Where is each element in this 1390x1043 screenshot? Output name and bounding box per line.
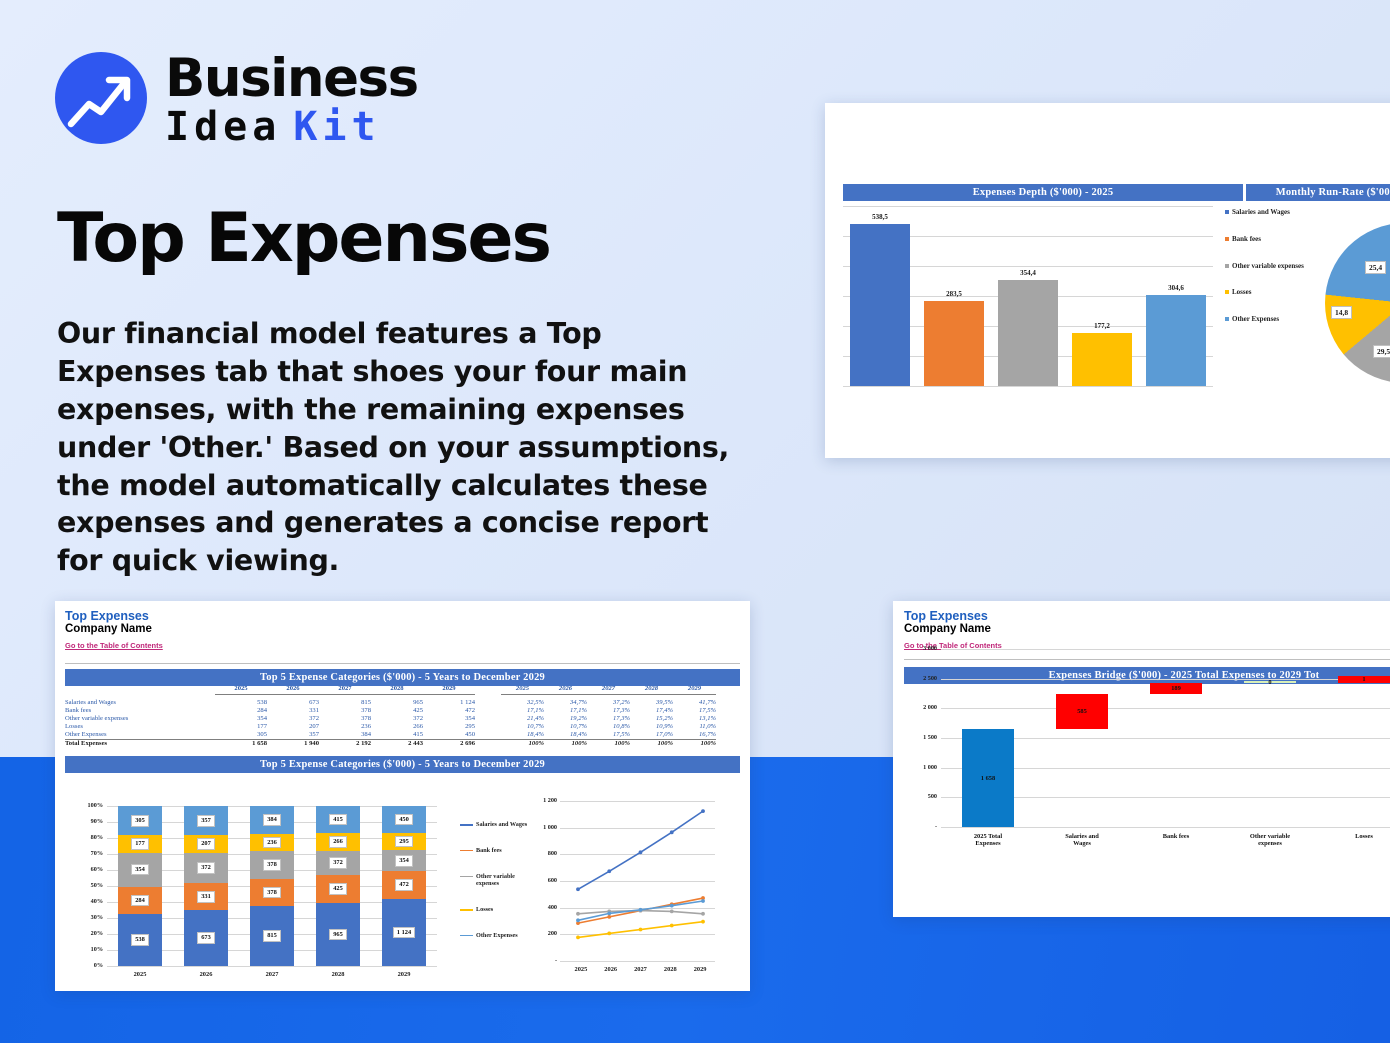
brand-name-primary: Business bbox=[165, 52, 418, 105]
stack-segment: 372 bbox=[316, 851, 360, 875]
pie-value-label: 25,4 bbox=[1365, 261, 1386, 274]
legend-label: Other Expenses bbox=[476, 932, 518, 940]
stacked-series: 3051773542845383572073723316733842363783… bbox=[107, 806, 437, 966]
top-charts-panel: Expenses Depth ($'000) - 2025 Monthly Ru… bbox=[825, 103, 1390, 458]
waterfall-column: 0Other variable expenses bbox=[1244, 649, 1296, 827]
y-axis-tick: 500 bbox=[905, 793, 937, 800]
stack-segment: 354 bbox=[118, 853, 162, 887]
x-axis-categories: 20252026202720282029 bbox=[560, 961, 715, 973]
bar-rect bbox=[998, 280, 1059, 386]
waterfall-column: 1 6582025 Total Expenses bbox=[962, 649, 1014, 827]
stack-segment: 384 bbox=[250, 806, 294, 834]
bar-value-label: 177,2 bbox=[1065, 322, 1139, 330]
waterfall-column: 585Salaries and Wages bbox=[1056, 649, 1108, 827]
legend-swatch-icon bbox=[1225, 237, 1229, 241]
waterfall-value-label: 585 bbox=[1056, 708, 1108, 715]
y-axis-tick: 50% bbox=[75, 882, 103, 889]
expenses-depth-bar-chart: 538,5283,5354,4177,2304,6 bbox=[843, 206, 1213, 386]
stack-segment: 1 124 bbox=[382, 899, 426, 966]
bar-value-label: 538,5 bbox=[843, 213, 917, 221]
y-axis-tick: 3 000 bbox=[905, 645, 937, 652]
y-axis-tick: 80% bbox=[75, 834, 103, 841]
stack-segment: 354 bbox=[382, 850, 426, 871]
x-tick: 2027 bbox=[626, 961, 656, 973]
legend-item: Other variable expenses bbox=[460, 873, 532, 889]
bar-rect bbox=[850, 224, 911, 386]
segment-value-label: 354 bbox=[131, 864, 149, 876]
waterfall-column: 1Losses bbox=[1338, 649, 1390, 827]
y-axis-tick: 400 bbox=[532, 904, 557, 911]
y-axis-tick: 200 bbox=[532, 930, 557, 937]
chart-title-row: Expenses Depth ($'000) - 2025 Monthly Ru… bbox=[843, 184, 1390, 201]
legend-label: Other variable expenses bbox=[476, 873, 532, 889]
stack-segment: 538 bbox=[118, 914, 162, 966]
x-tick: 2028 bbox=[305, 966, 371, 978]
waterfall-column: 189Bank fees bbox=[1150, 649, 1202, 827]
y-axis-tick: 800 bbox=[532, 850, 557, 857]
segment-value-label: 538 bbox=[131, 934, 149, 946]
x-tick: 2025 bbox=[107, 966, 173, 978]
x-tick: Other variable expenses bbox=[1244, 827, 1296, 847]
sheet-title: Top Expenses bbox=[904, 609, 1002, 623]
segment-value-label: 472 bbox=[395, 879, 413, 891]
segment-value-label: 378 bbox=[263, 887, 281, 899]
segment-value-label: 207 bbox=[197, 838, 215, 850]
stacked-bar-2025: 305177354284538 bbox=[107, 806, 173, 966]
sheet-title: Top Expenses bbox=[65, 609, 163, 623]
y-axis-tick: 1 000 bbox=[905, 764, 937, 771]
legend-line-icon bbox=[460, 876, 473, 878]
stacked-bar-2027: 384236378378815 bbox=[239, 806, 305, 966]
legend-item: Other variable expenses bbox=[1225, 262, 1315, 271]
segment-value-label: 305 bbox=[131, 815, 149, 827]
pie-value-label: 14,8 bbox=[1331, 306, 1352, 319]
top-expense-categories-sheet: Top Expenses Company Name Go to the Tabl… bbox=[55, 601, 750, 991]
x-tick: 2027 bbox=[239, 966, 305, 978]
y-axis-tick: 60% bbox=[75, 866, 103, 873]
y-axis-tick: 2 000 bbox=[905, 704, 937, 711]
y-axis-tick: 40% bbox=[75, 898, 103, 905]
x-tick: 2029 bbox=[685, 961, 715, 973]
trending-up-arrow-icon bbox=[55, 52, 147, 144]
legend-item: Bank fees bbox=[1225, 235, 1315, 244]
stack-segment: 357 bbox=[184, 806, 228, 835]
legend-item: Bank fees bbox=[460, 847, 532, 855]
legend-label: Bank fees bbox=[476, 847, 502, 855]
segment-value-label: 965 bbox=[329, 929, 347, 941]
waterfall-value-label: 1 bbox=[1338, 676, 1390, 683]
legend-swatch-icon bbox=[1225, 290, 1229, 294]
stack-segment: 965 bbox=[316, 903, 360, 966]
stack-segment: 673 bbox=[184, 910, 228, 966]
stack-segment: 472 bbox=[382, 871, 426, 899]
legend-label: Losses bbox=[476, 906, 493, 914]
x-tick: 2025 bbox=[566, 961, 596, 973]
stacked-bar-2026: 357207372331673 bbox=[173, 806, 239, 966]
monthly-run-rate-pie-chart: 25,414,829,523 bbox=[1325, 223, 1390, 383]
brand-name-secondary: Idea bbox=[165, 107, 281, 147]
table-row: Bank fees28433137842547217,1%17,1%17,3%1… bbox=[65, 707, 716, 715]
y-axis-tick: 600 bbox=[532, 877, 557, 884]
legend-label: Losses bbox=[1232, 288, 1251, 297]
y-axis-tick: 10% bbox=[75, 946, 103, 953]
stack-segment: 372 bbox=[184, 853, 228, 884]
table-row: Other variable expenses35437237837235421… bbox=[65, 715, 716, 723]
legend-item: Losses bbox=[1225, 288, 1315, 297]
segment-value-label: 1 124 bbox=[393, 927, 415, 939]
table-row: Other Expenses30535738441545018,4%18,4%1… bbox=[65, 731, 716, 740]
y-axis-tick: 1 000 bbox=[532, 824, 557, 831]
legend-label: Other Expenses bbox=[1232, 315, 1279, 324]
y-axis-tick: 1 200 bbox=[532, 797, 557, 804]
pie-value-label: 29,5 bbox=[1373, 345, 1390, 358]
segment-value-label: 236 bbox=[263, 837, 281, 849]
segment-value-label: 384 bbox=[263, 814, 281, 826]
pie-slices bbox=[1325, 223, 1390, 383]
stacked-bar-2029: 4502953544721 124 bbox=[371, 806, 437, 966]
y-axis-tick: 70% bbox=[75, 850, 103, 857]
y-axis-tick: - bbox=[905, 823, 937, 830]
y-axis-tick: 1 500 bbox=[905, 734, 937, 741]
stack-segment: 378 bbox=[250, 879, 294, 907]
table-row: Salaries and Wages5386738159651 12432,5%… bbox=[65, 699, 716, 707]
table-row: Losses17720723626629510,7%10,7%10,8%10,9… bbox=[65, 723, 716, 731]
x-tick: 2026 bbox=[173, 966, 239, 978]
y-axis-tick: 100% bbox=[75, 802, 103, 809]
bar-value-label: 304,6 bbox=[1139, 284, 1213, 292]
line-chart-legend: Salaries and WagesBank feesOther variabl… bbox=[460, 821, 532, 958]
sheet-company-name: Company Name bbox=[65, 623, 163, 635]
legend-label: Salaries and Wages bbox=[476, 821, 527, 829]
legend-item: Losses bbox=[460, 906, 532, 914]
x-tick: 2029 bbox=[371, 966, 437, 978]
segment-value-label: 284 bbox=[131, 895, 149, 907]
stack-segment: 331 bbox=[184, 883, 228, 910]
stack-segment: 177 bbox=[118, 835, 162, 852]
legend-label: Other variable expenses bbox=[1232, 262, 1304, 271]
legend-line-icon bbox=[460, 909, 473, 911]
x-tick: 2026 bbox=[596, 961, 626, 973]
legend-item: Salaries and Wages bbox=[460, 821, 532, 829]
x-tick: 2028 bbox=[655, 961, 685, 973]
segment-value-label: 673 bbox=[197, 932, 215, 944]
y-axis-tick: 0% bbox=[75, 962, 103, 969]
stack-segment: 284 bbox=[118, 887, 162, 914]
expenses-depth-title: Expenses Depth ($'000) - 2025 bbox=[843, 184, 1243, 201]
stack-segment: 450 bbox=[382, 806, 426, 833]
stacked-bar-chart: 100%90%80%70%60%50%40%30%20%10%0% 305177… bbox=[107, 806, 437, 966]
table-total-row: Total Expenses1 6581 9402 1922 4432 6961… bbox=[65, 739, 716, 748]
stack-segment: 266 bbox=[316, 833, 360, 850]
segment-value-label: 378 bbox=[263, 859, 281, 871]
segment-value-label: 815 bbox=[263, 930, 281, 942]
expense-trend-line-chart: 1 2001 000800600400200- 2025202620272028… bbox=[560, 801, 715, 961]
page-title: Top Expenses bbox=[57, 205, 737, 273]
brand-logo: Business Idea Kit bbox=[55, 48, 418, 147]
y-axis-tick: 30% bbox=[75, 914, 103, 921]
segment-value-label: 372 bbox=[329, 857, 347, 869]
segment-value-label: 266 bbox=[329, 836, 347, 848]
segment-value-label: 450 bbox=[395, 814, 413, 826]
stack-segment: 305 bbox=[118, 806, 162, 835]
expenses-depth-legend: Salaries and WagesBank feesOther variabl… bbox=[1225, 208, 1315, 342]
table-of-contents-link[interactable]: Go to the Table of Contents bbox=[65, 641, 163, 650]
monthly-run-rate-title: Monthly Run-Rate ($'000 bbox=[1246, 184, 1390, 201]
segment-value-label: 357 bbox=[197, 815, 215, 827]
stack-segment: 207 bbox=[184, 835, 228, 852]
waterfall-value-label: 0 bbox=[1244, 679, 1296, 686]
stacked-bar-2028: 415266372425965 bbox=[305, 806, 371, 966]
expenses-bridge-waterfall-chart: 3 0002 5002 0001 5001 000500- 1 6582025 … bbox=[941, 649, 1390, 827]
segment-value-label: 372 bbox=[197, 862, 215, 874]
legend-line-icon bbox=[460, 824, 473, 826]
legend-label: Salaries and Wages bbox=[1232, 208, 1290, 217]
x-tick: Bank fees bbox=[1150, 827, 1202, 840]
stack-segment: 295 bbox=[382, 833, 426, 851]
waterfall-value-label: 1 658 bbox=[962, 775, 1014, 782]
bar-value-label: 354,4 bbox=[991, 269, 1065, 277]
legend-item: Salaries and Wages bbox=[1225, 208, 1315, 217]
table-title-band: Top 5 Expense Categories ($'000) - 5 Yea… bbox=[65, 669, 740, 686]
segment-value-label: 354 bbox=[395, 855, 413, 867]
bar-rect bbox=[924, 301, 985, 386]
x-tick: 2025 Total Expenses bbox=[962, 827, 1014, 847]
legend-swatch-icon bbox=[1225, 210, 1229, 214]
y-axis-tick: 2 500 bbox=[905, 675, 937, 682]
legend-item: Other Expenses bbox=[460, 932, 532, 940]
bar-series: 538,5283,5354,4177,2304,6 bbox=[843, 206, 1213, 386]
legend-item: Other Expenses bbox=[1225, 315, 1315, 324]
expenses-bridge-sheet: Top Expenses Company Name Go to the Tabl… bbox=[893, 601, 1390, 917]
y-axis-tick: - bbox=[532, 957, 557, 964]
y-axis-tick: 90% bbox=[75, 818, 103, 825]
bar-rect bbox=[1072, 333, 1133, 386]
x-tick: Losses bbox=[1338, 827, 1390, 840]
stack-segment: 815 bbox=[250, 906, 294, 966]
chart-title-band: Top 5 Expense Categories ($'000) - 5 Yea… bbox=[65, 756, 740, 773]
y-axis-tick: 20% bbox=[75, 930, 103, 937]
x-axis-categories: 20252026202720282029 bbox=[107, 966, 437, 978]
bar-value-label: 283,5 bbox=[917, 290, 991, 298]
page-description: Our financial model features a Top Expen… bbox=[57, 315, 757, 580]
segment-value-label: 177 bbox=[131, 838, 149, 850]
stack-segment: 378 bbox=[250, 851, 294, 879]
bar-rect bbox=[1146, 295, 1207, 386]
stack-segment: 425 bbox=[316, 875, 360, 903]
stack-segment: 415 bbox=[316, 806, 360, 833]
segment-value-label: 425 bbox=[329, 883, 347, 895]
segment-value-label: 415 bbox=[329, 814, 347, 826]
legend-label: Bank fees bbox=[1232, 235, 1261, 244]
brand-name-tertiary: Kit bbox=[293, 107, 380, 147]
segment-value-label: 295 bbox=[395, 836, 413, 848]
x-tick: Salaries and Wages bbox=[1056, 827, 1108, 847]
waterfall-value-label: 189 bbox=[1150, 685, 1202, 692]
legend-swatch-icon bbox=[1225, 264, 1229, 268]
legend-line-icon bbox=[460, 850, 473, 852]
stack-segment: 236 bbox=[250, 834, 294, 851]
legend-swatch-icon bbox=[1225, 317, 1229, 321]
expense-table: 2025202620272028202920252026202720282029… bbox=[65, 685, 716, 748]
sheet-company-name: Company Name bbox=[904, 623, 1002, 635]
segment-value-label: 331 bbox=[197, 891, 215, 903]
legend-line-icon bbox=[460, 935, 473, 937]
